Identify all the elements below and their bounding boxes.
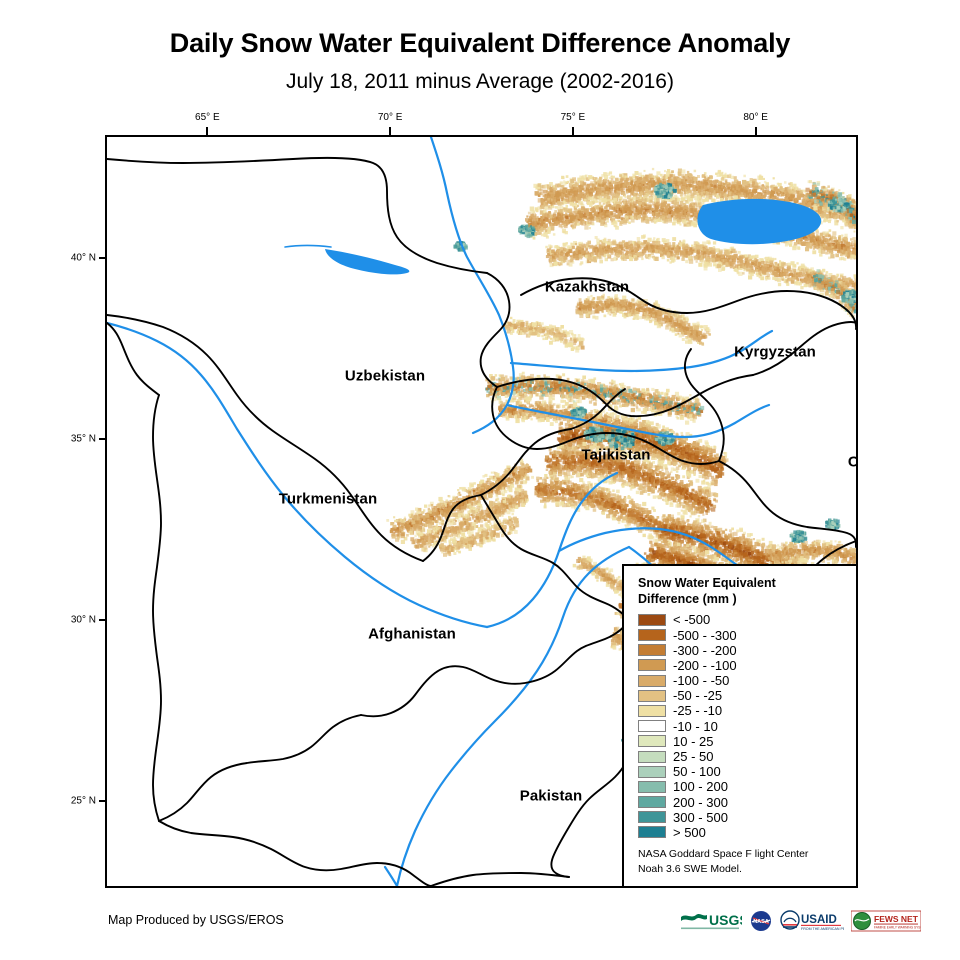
lon-tick-mark-2 (572, 127, 574, 135)
lat-tick-label-2: 30° N (58, 615, 96, 626)
legend-label: -300 - -200 (673, 644, 737, 657)
legend-row: 100 - 200 (638, 779, 847, 794)
legend-swatch (638, 766, 666, 778)
country-label-kazakhstan: Kazakhstan (545, 279, 629, 296)
legend-swatch (638, 690, 666, 702)
lon-tick-mark-0 (206, 127, 208, 135)
legend-label: -500 - -300 (673, 629, 737, 642)
legend-swatch (638, 751, 666, 763)
usaid-logo: USAID FROM THE AMERICAN PEOPLE (780, 910, 844, 932)
legend-row: > 500 (638, 825, 847, 840)
legend-row: 50 - 100 (638, 764, 847, 779)
legend-swatch (638, 659, 666, 671)
legend-row: -200 - -100 (638, 658, 847, 673)
lon-tick-mark-3 (755, 127, 757, 135)
legend-note: NASA Goddard Space F light Center Noah 3… (638, 847, 847, 877)
lat-tick-label-0: 40° N (58, 253, 96, 264)
page-title: Daily Snow Water Equivalent Difference A… (0, 28, 960, 59)
lat-tick-label-3: 25° N (58, 796, 96, 807)
legend-label: 100 - 200 (673, 780, 728, 793)
legend-note-line1: NASA Goddard Space F light Center (638, 847, 847, 862)
country-label-turkmenistan: Turkmenistan (279, 491, 377, 508)
legend-row: 25 - 50 (638, 749, 847, 764)
legend-label: 300 - 500 (673, 811, 728, 824)
legend-swatch (638, 675, 666, 687)
lon-tick-label-1: 70° E (378, 112, 403, 123)
legend-label: 25 - 50 (673, 750, 713, 763)
legend-label: 10 - 25 (673, 735, 713, 748)
legend-row: -10 - 10 (638, 719, 847, 734)
legend-row: -300 - -200 (638, 643, 847, 658)
country-label-kyrgyzstan: Kyrgyzstan (734, 344, 816, 361)
legend-swatch (638, 614, 666, 626)
legend-swatch (638, 720, 666, 732)
legend-row: -50 - -25 (638, 688, 847, 703)
legend-swatch (638, 826, 666, 838)
agency-logos: USGS NASA USAID FROM THE AMERICAN PEOPLE (680, 908, 921, 934)
legend-row: 300 - 500 (638, 810, 847, 825)
legend-label: 200 - 300 (673, 796, 728, 809)
lon-tick-mark-1 (389, 127, 391, 135)
legend-row: -500 - -300 (638, 627, 847, 642)
page-subtitle: July 18, 2011 minus Average (2002-2016) (0, 70, 960, 94)
legend-label: -100 - -50 (673, 674, 729, 687)
country-label-afghanistan: Afghanistan (368, 626, 456, 643)
legend-title: Snow Water Equivalent Difference (mm ) (638, 576, 847, 607)
country-label-china: China (848, 454, 858, 471)
legend-row: -100 - -50 (638, 673, 847, 688)
legend-row: -25 - -10 (638, 703, 847, 718)
lat-tick-label-1: 35° N (58, 434, 96, 445)
legend-swatch (638, 629, 666, 641)
legend-label: > 500 (673, 826, 706, 839)
legend-swatch (638, 796, 666, 808)
country-label-tajikistan: Tajikistan (581, 447, 650, 464)
lon-tick-label-2: 75° E (561, 112, 586, 123)
nasa-logo: NASA (749, 910, 773, 932)
country-label-pakistan: Pakistan (520, 788, 583, 805)
map-credit: Map Produced by USGS/EROS (108, 913, 284, 927)
usgs-logo: USGS (680, 910, 742, 932)
legend-row: 200 - 300 (638, 795, 847, 810)
legend-row: 10 - 25 (638, 734, 847, 749)
map-legend[interactable]: Snow Water Equivalent Difference (mm ) <… (622, 564, 858, 888)
legend-label: -25 - -10 (673, 704, 722, 717)
legend-class-list: < -500-500 - -300-300 - -200-200 - -100-… (638, 612, 847, 840)
legend-swatch (638, 705, 666, 717)
legend-label: 50 - 100 (673, 765, 721, 778)
lon-tick-label-3: 80° E (743, 112, 768, 123)
legend-swatch (638, 811, 666, 823)
legend-swatch (638, 735, 666, 747)
legend-note-line2: Noah 3.6 SWE Model. (638, 862, 847, 877)
legend-label: -200 - -100 (673, 659, 737, 672)
legend-swatch (638, 644, 666, 656)
legend-row: < -500 (638, 612, 847, 627)
legend-title-line2: Difference (mm ) (638, 592, 847, 608)
fewsnet-logo: FEWS NET FAMINE EARLY WARNING SYSTEMS NE… (851, 910, 921, 932)
legend-title-line1: Snow Water Equivalent (638, 576, 847, 592)
legend-label: < -500 (673, 613, 710, 626)
legend-swatch (638, 781, 666, 793)
lon-tick-label-0: 65° E (195, 112, 220, 123)
legend-label: -10 - 10 (673, 720, 718, 733)
country-label-uzbekistan: Uzbekistan (345, 368, 425, 385)
legend-label: -50 - -25 (673, 689, 722, 702)
map-frame[interactable]: KazakhstanUzbekistanKyrgyzstanTajikistan… (105, 135, 858, 888)
